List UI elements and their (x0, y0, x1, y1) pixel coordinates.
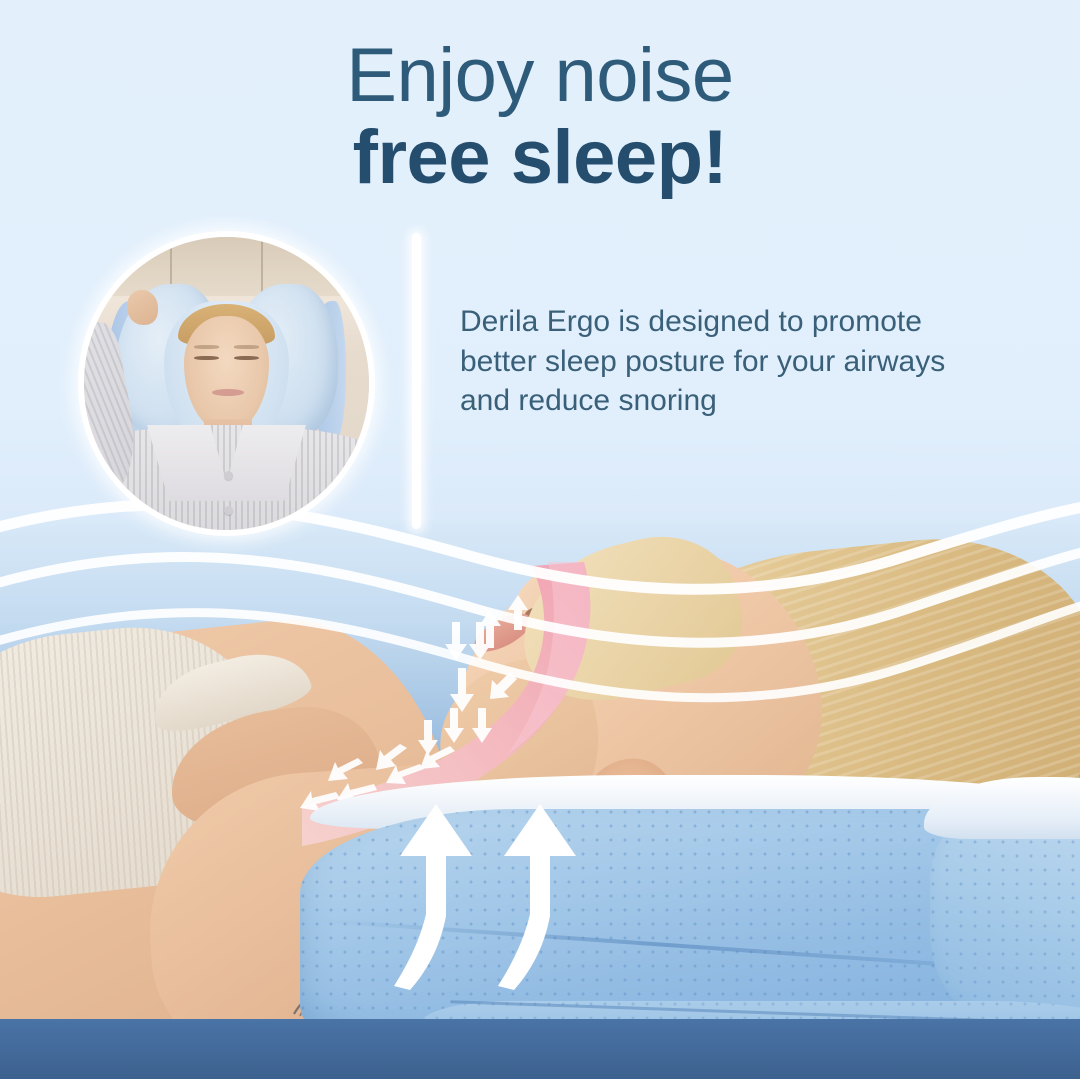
headline-line-2: free sleep! (0, 120, 1080, 196)
promo-graphic: Enjoy noise free sleep! Derila Ergo is d… (0, 0, 1080, 1079)
inset-eyebrow-right (234, 345, 260, 349)
headline-line-1: Enjoy noise (0, 38, 1080, 114)
inset-headboard (78, 231, 375, 295)
inset-eyebrow-left (194, 345, 220, 349)
airflow-arrows-icon (330, 790, 660, 990)
vertical-divider (412, 233, 421, 529)
inset-button (224, 471, 233, 480)
bottom-bar (0, 1019, 1080, 1079)
page-title: Enjoy noise free sleep! (0, 38, 1080, 196)
inset-button (224, 506, 233, 515)
description-text: Derila Ergo is designed to promote bette… (460, 302, 980, 421)
inset-headboard-seam (261, 231, 263, 295)
inset-hand (127, 290, 158, 325)
inset-photo-circle (78, 231, 375, 536)
